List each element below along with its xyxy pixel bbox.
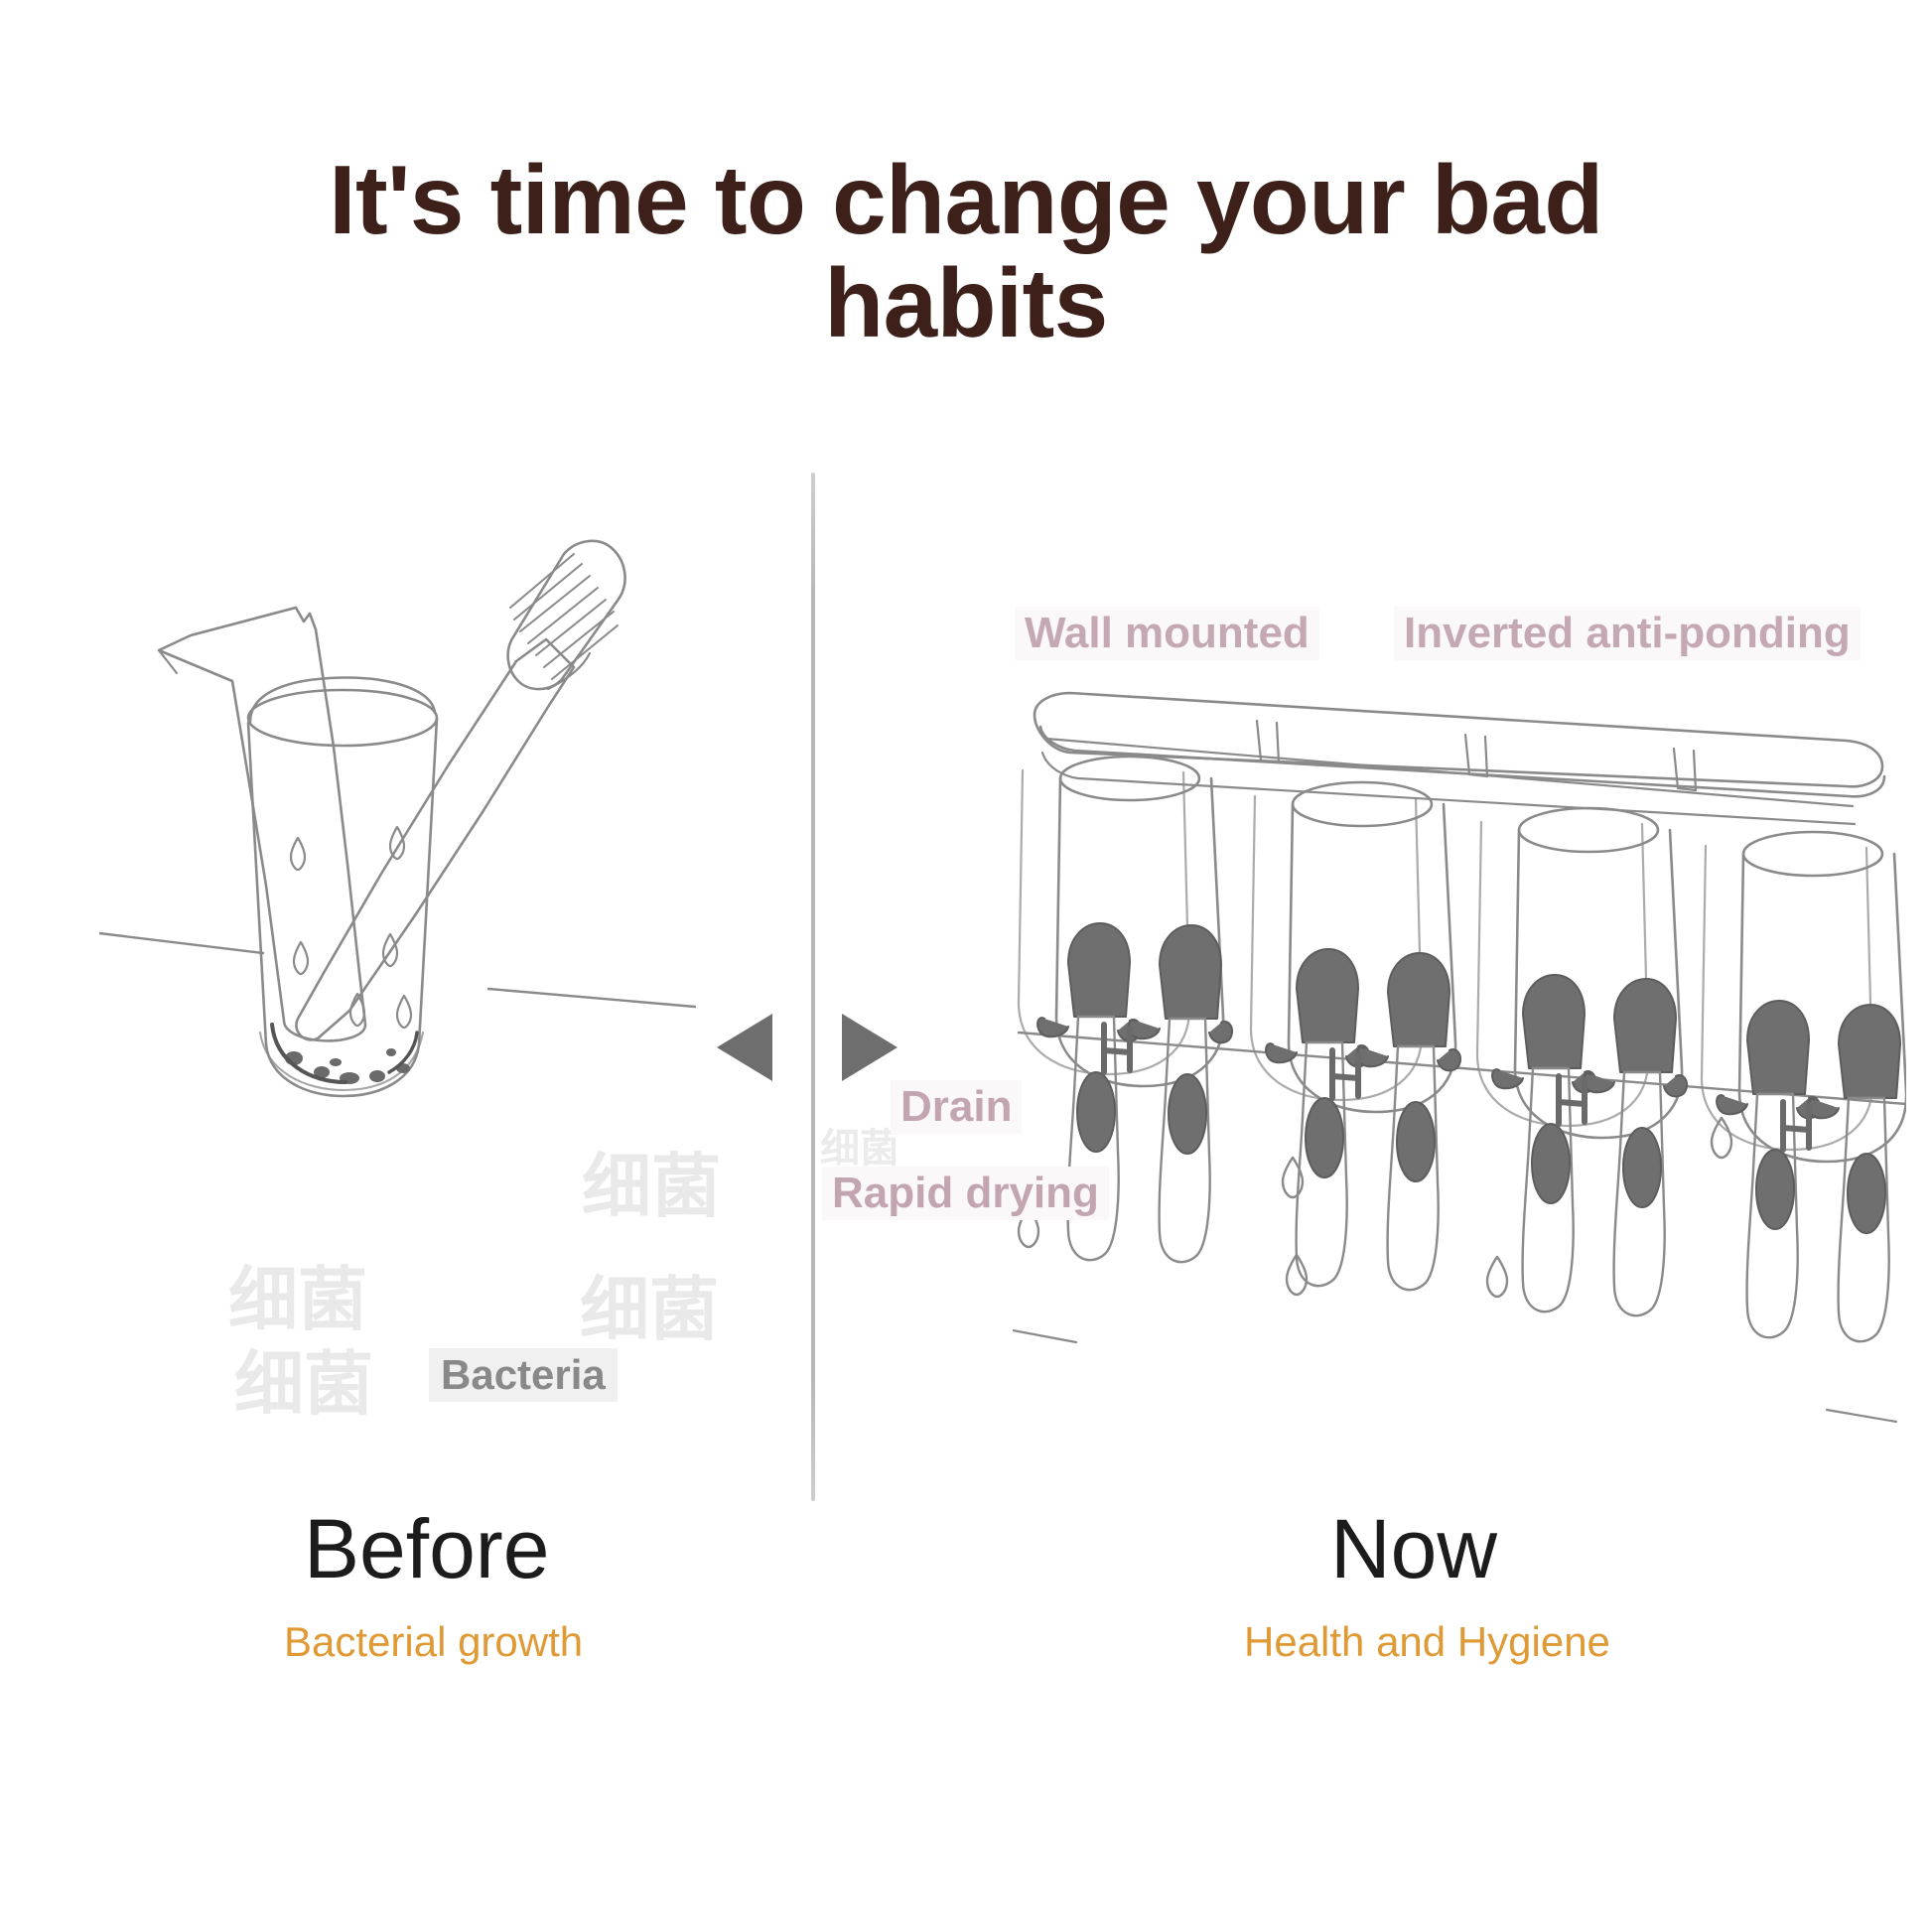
toothbrush-7: [1717, 1001, 1820, 1337]
label-wall-mounted: Wall mounted: [1015, 607, 1319, 660]
label-inverted-anti-ponding: Inverted anti-ponding: [1394, 607, 1861, 660]
triangle-right-icon: [842, 1014, 897, 1081]
infographic-stage: It's time to change your bad habits: [0, 0, 1932, 1932]
page-title: It's time to change your bad habits: [0, 149, 1932, 355]
label-bacteria: Bacteria: [429, 1348, 618, 1402]
bristle-head-icon: [1523, 975, 1585, 1068]
watermark-bacteria-cn-1: 细菌: [582, 1131, 721, 1231]
subcaption-health-and-hygiene: Health and Hygiene: [1244, 1618, 1610, 1666]
ground-line-right: [1827, 1410, 1896, 1422]
toothbrush-pair-3: [1492, 975, 1687, 1315]
glass-cup: [248, 678, 437, 1096]
label-rapid-drying: Rapid drying: [822, 1167, 1109, 1220]
drip-droplets: [1019, 1118, 1731, 1297]
toothbrush-2: [1129, 925, 1232, 1262]
bristle-head-icon: [1839, 1005, 1900, 1098]
title-line-1: It's time to change your bad: [0, 149, 1932, 252]
center-divider: [811, 473, 815, 1501]
surface-line-left: [99, 933, 263, 953]
ground-line-left: [1013, 1330, 1076, 1342]
bristle-head-icon: [1068, 923, 1130, 1017]
hook-icon: [1037, 1018, 1068, 1036]
watermark-bacteria-cn-5: 细菌: [820, 1116, 899, 1173]
watermark-bacteria-cn-4: 细菌: [234, 1328, 373, 1429]
toothbrush-pair-4: [1717, 1001, 1900, 1341]
watermark-bacteria-cn-2: 细菌: [580, 1254, 719, 1354]
toothbrush-6: [1584, 979, 1687, 1315]
bristle-head-icon: [1388, 953, 1449, 1046]
triangle-left-icon: [717, 1014, 772, 1081]
toothbrush-3: [1266, 949, 1369, 1286]
toothbrush-pair-2: [1266, 949, 1460, 1290]
toothbrush: [296, 541, 624, 1040]
label-drain: Drain: [891, 1080, 1022, 1134]
caption-now: Now: [1330, 1501, 1497, 1597]
subcaption-bacterial-growth: Bacterial growth: [284, 1618, 583, 1666]
toothbrush-4: [1357, 953, 1460, 1290]
bristle-head-icon: [1614, 979, 1676, 1072]
toothbrush-8: [1808, 1005, 1900, 1341]
surface-line-right: [488, 989, 695, 1007]
toothbrush-5: [1492, 975, 1595, 1311]
title-line-2: habits: [0, 252, 1932, 355]
bristle-head-icon: [1160, 925, 1221, 1019]
caption-before: Before: [304, 1501, 550, 1597]
grip-pad: [1077, 1072, 1115, 1152]
now-illustration: [1013, 675, 1906, 1449]
bristle-head-icon: [1297, 949, 1358, 1042]
bristle-head-icon: [1747, 1001, 1809, 1094]
